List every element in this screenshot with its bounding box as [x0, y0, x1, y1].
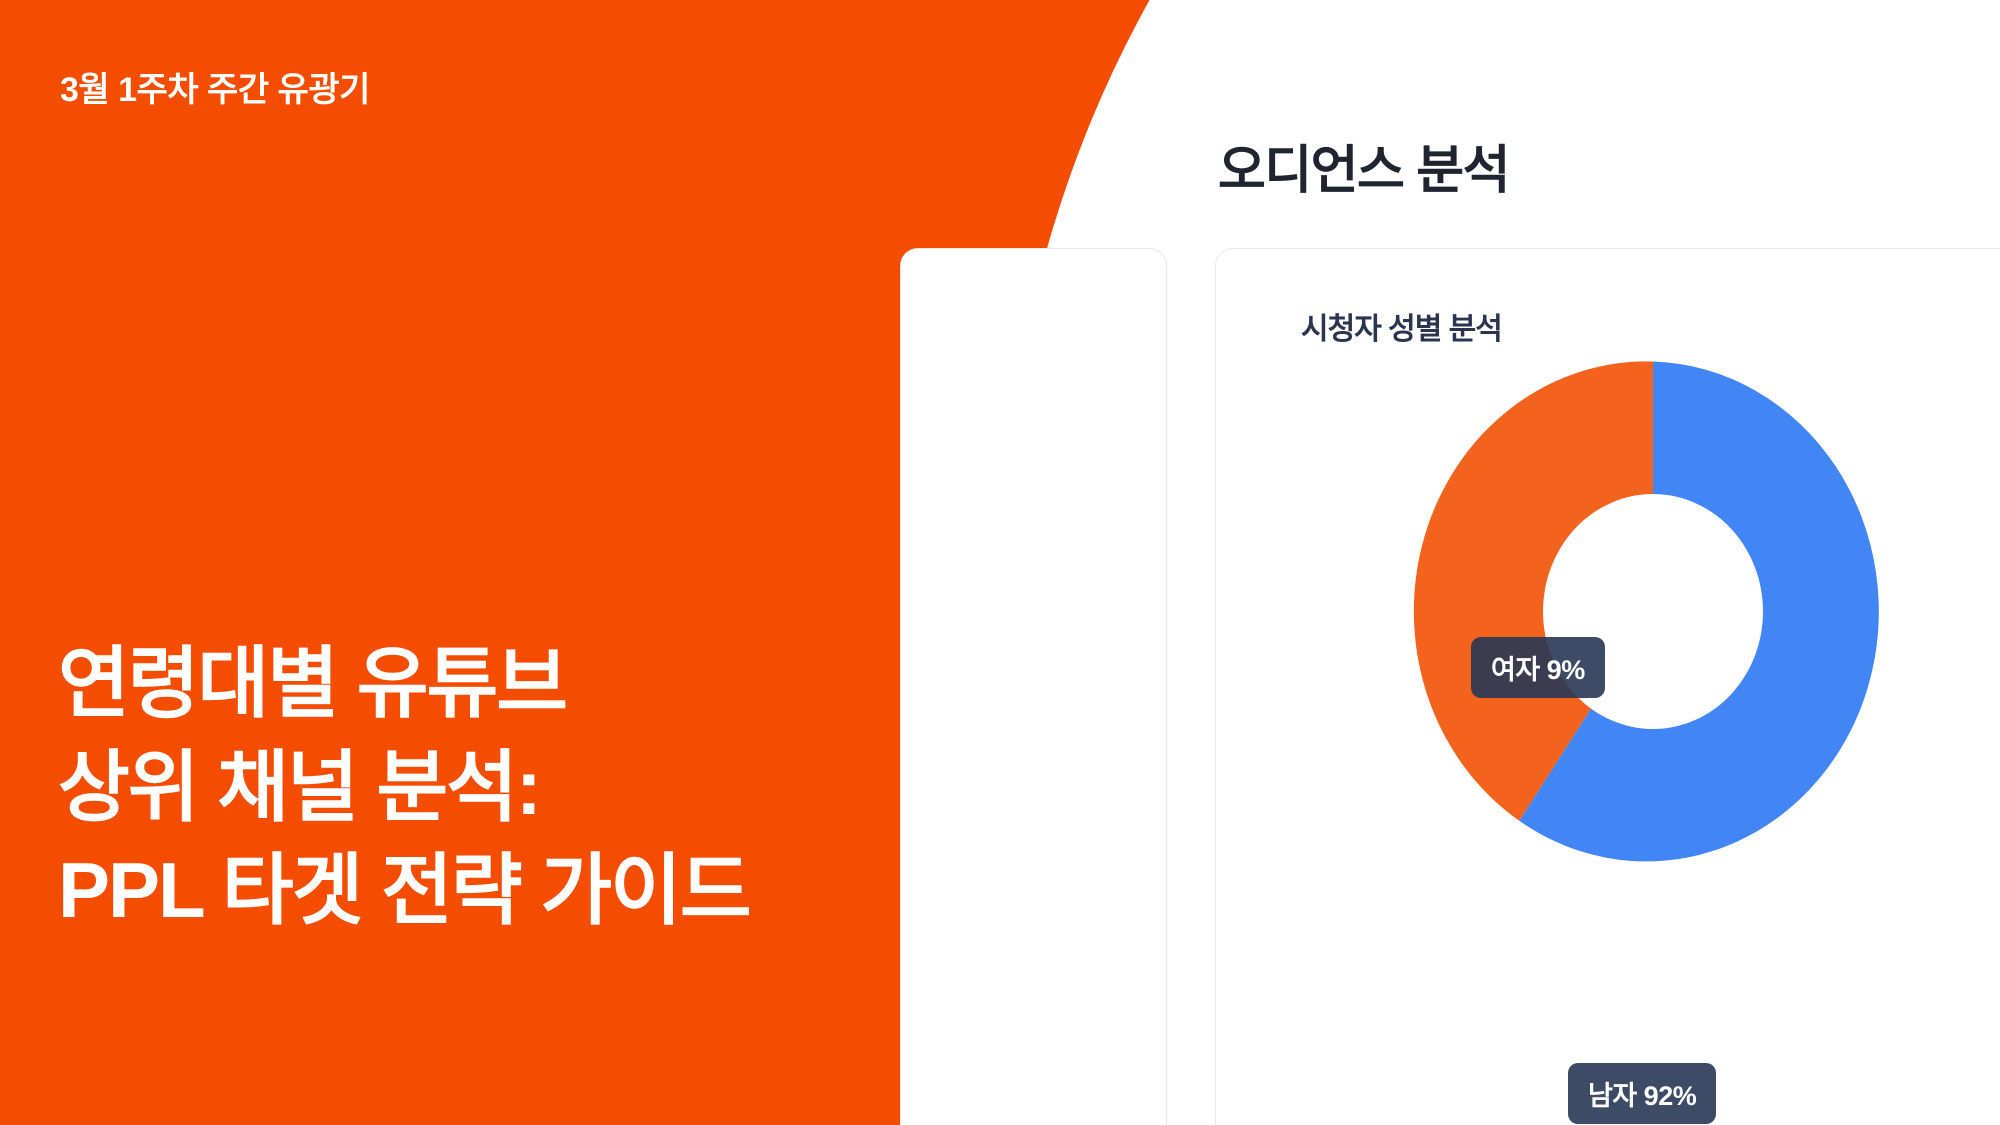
adjacent-card	[900, 248, 1167, 1125]
gender-donut-chart[interactable]	[1403, 344, 1903, 879]
tooltip-female: 여자 9%	[1471, 637, 1605, 698]
page-title: 오디언스 분석	[1218, 128, 1509, 203]
slide-canvas: 3월 1주차 주간 유광기 연령대별 유튜브 상위 채널 분석: PPL 타겟 …	[0, 0, 2000, 1125]
gender-analysis-card: 시청자 성별 분석 여자 9% 남자 92%	[1215, 248, 2000, 1125]
tooltip-male: 남자 92%	[1568, 1063, 1716, 1124]
donut-chart-region: 여자 9% 남자 92% 남자 92% 여자 9%	[1353, 334, 1953, 974]
dashboard-screenshot: 오디언스 분석 시청자 성별 분석 여자 9% 남자	[0, 0, 2000, 1125]
legend-label-male: 남자 92%	[1451, 1119, 1562, 1125]
legend-item-male[interactable]: 남자 92%	[1413, 1119, 1562, 1125]
